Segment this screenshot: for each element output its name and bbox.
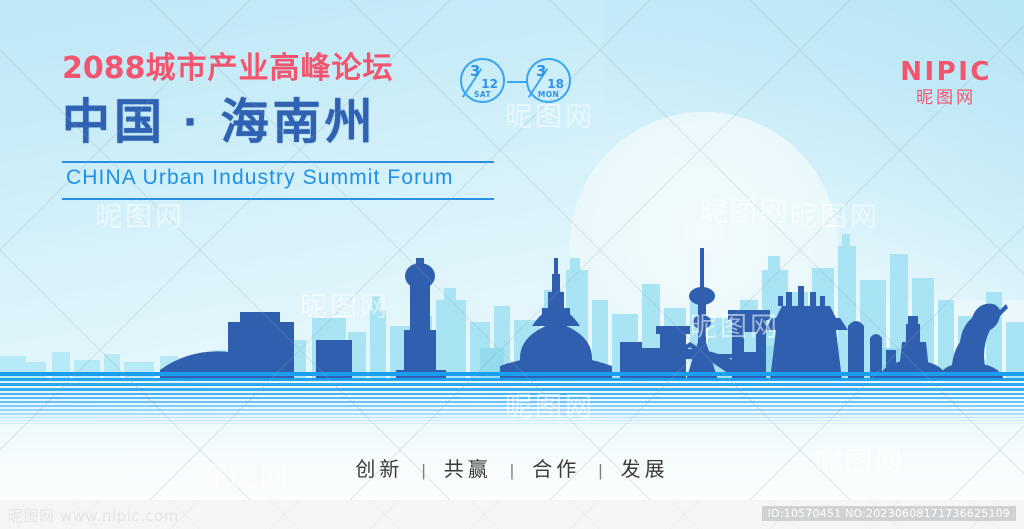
- slogan-item-4: 发展: [617, 459, 673, 481]
- poster-canvas: 2088城市产业高峰论坛 中国 · 海南州 CHINA Urban Indust…: [0, 0, 1024, 529]
- stripe-band: [0, 372, 1024, 424]
- start-day: 12: [481, 77, 498, 91]
- end-day: 18: [547, 77, 564, 91]
- footer-watermark: 昵图网 www.nipic.com: [8, 505, 179, 526]
- subtitle-english: CHINA Urban Industry Summit Forum: [62, 163, 582, 193]
- footer-id-text: ID:10570451 NO:20230608171736625109: [762, 506, 1016, 521]
- slogan-item-3: 合作: [528, 459, 584, 481]
- logo-text-cn: 昵图网: [900, 89, 992, 108]
- slogan-sep-1: |: [407, 461, 439, 480]
- slogan-sep-3: |: [584, 461, 616, 480]
- slogan-sep-2: |: [496, 461, 528, 480]
- start-date-badge: 3 12 SAT: [460, 58, 505, 103]
- slogan-item-2: 共赢: [440, 459, 496, 481]
- end-date-badge: 3 18 MON: [526, 58, 571, 103]
- slogan-item-1: 创新: [351, 459, 407, 481]
- start-month: 3: [470, 62, 480, 80]
- logo-text-en: NIPIC: [900, 58, 992, 87]
- end-month: 3: [536, 62, 546, 80]
- slogan-row: 创新|共赢|合作|发展: [0, 453, 1024, 482]
- end-weekday: MON: [528, 90, 569, 99]
- headline-year: 2088: [62, 51, 146, 86]
- footer-bar: 昵图网 www.nipic.com ID:10570451 NO:2023060…: [0, 500, 1024, 529]
- nipic-logo: NIPIC 昵图网: [900, 58, 992, 107]
- headline-rest: 城市产业高峰论坛: [146, 52, 394, 85]
- foreground-skyline-silhouette: [0, 230, 1024, 380]
- title-rule-bottom: [62, 198, 494, 200]
- date-connector-line: [507, 81, 526, 83]
- start-weekday: SAT: [462, 90, 503, 99]
- date-range-badges: 3 12 SAT 3 18 MON: [460, 58, 580, 108]
